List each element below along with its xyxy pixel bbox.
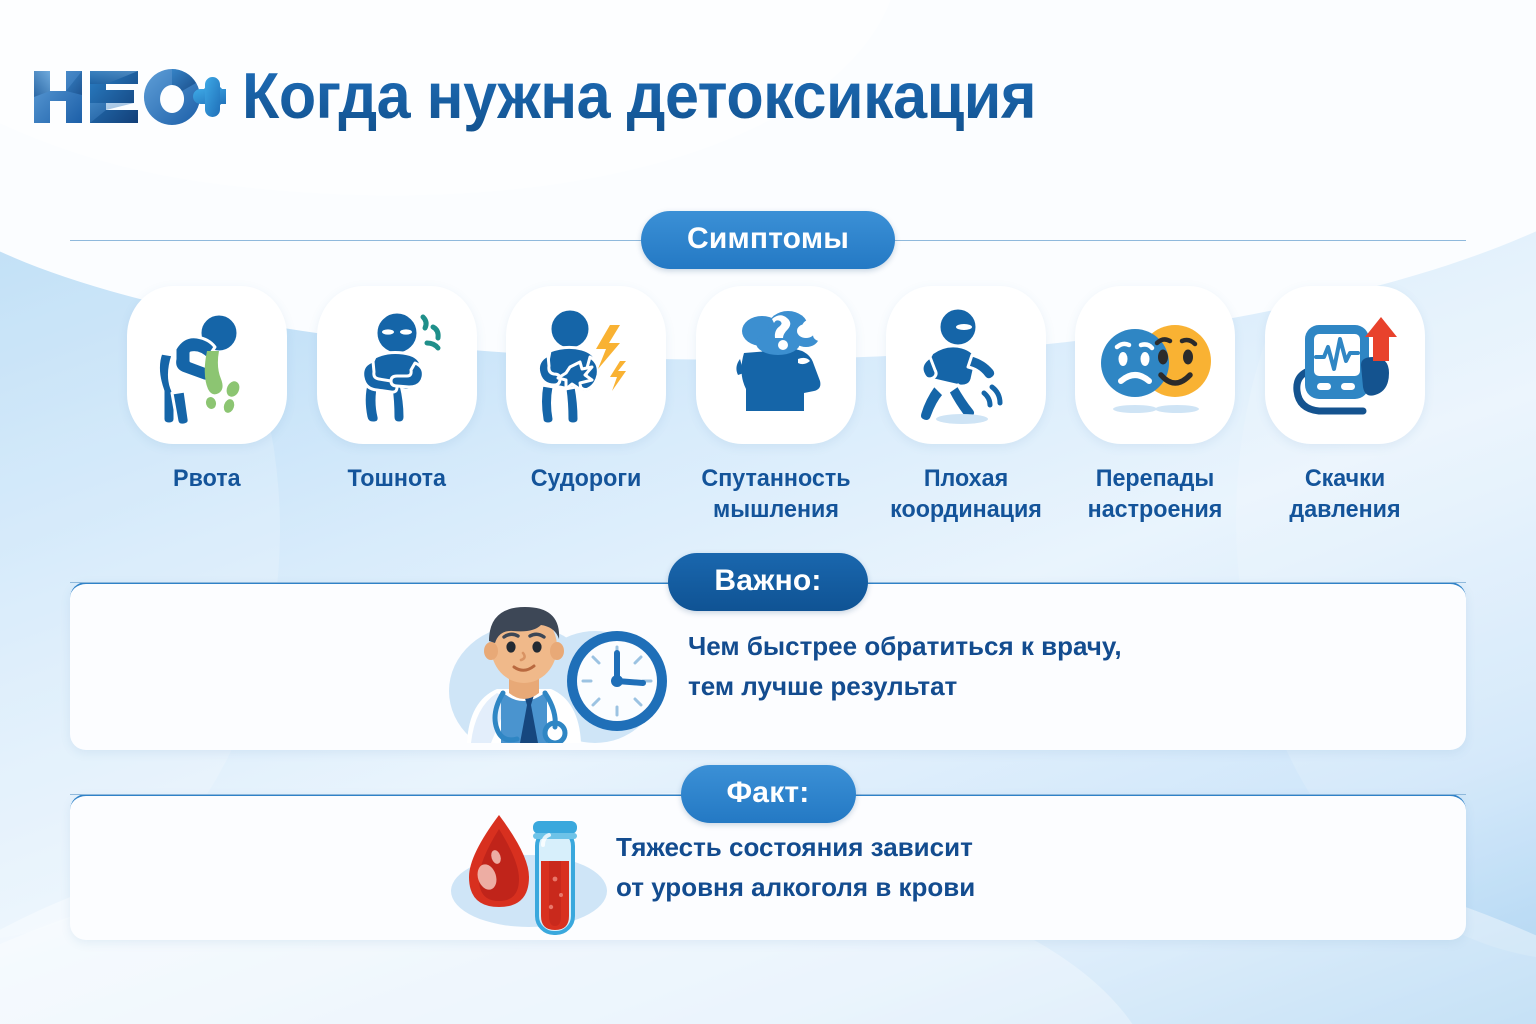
important-text: Чем быстрее обратиться к врачу, тем лучш… [688, 627, 1122, 706]
symptom-label: Скачки давления [1259, 464, 1432, 525]
symptom-item[interactable]: Тошнота [308, 286, 486, 525]
symptom-label: Плохая координация [879, 464, 1052, 525]
nausea-person-icon [335, 305, 459, 425]
doctor-with-clock-illustration [422, 594, 682, 744]
fact-badge: Факт: [681, 765, 856, 823]
brand-logo [30, 65, 226, 129]
symptom-icon-tile [1265, 286, 1425, 444]
symptom-label: Судороги [531, 464, 642, 495]
important-section-header: Важно: [70, 552, 1466, 612]
blood-pressure-monitor-icon [1283, 305, 1407, 425]
symptom-item[interactable]: Плохая координация [877, 286, 1055, 525]
vomiting-person-icon [145, 305, 269, 425]
symptom-icon-tile [127, 286, 287, 444]
symptom-icon-tile [317, 286, 477, 444]
symptom-icon-tile [886, 286, 1046, 444]
symptoms-badge: Симптомы [641, 211, 895, 269]
infographic-page: Когда нужна детоксикация Симптомы [0, 0, 1536, 1024]
symptoms-section-header: Симптомы [70, 210, 1466, 270]
poor-coordination-person-icon [904, 305, 1028, 425]
neo-plus-logo-icon [30, 65, 226, 129]
symptom-icon-tile [506, 286, 666, 444]
symptom-label: Рвота [173, 464, 241, 495]
cramps-person-icon [524, 305, 648, 425]
symptom-item[interactable]: Судороги [497, 286, 675, 525]
fact-text: Тяжесть состояния зависит от уровня алко… [616, 828, 975, 907]
symptoms-list: Рвота [118, 286, 1434, 525]
symptom-label: Перепады настроения [1069, 464, 1242, 525]
symptom-label: Спутанность мышления [690, 464, 863, 525]
symptom-icon-tile [696, 286, 856, 444]
mood-swings-faces-icon [1093, 305, 1217, 425]
symptom-icon-tile [1075, 286, 1235, 444]
important-badge: Важно: [668, 553, 867, 611]
symptom-label: Тошнота [347, 464, 445, 495]
fact-section-header: Факт: [70, 764, 1466, 824]
symptom-item[interactable]: Скачки давления [1256, 286, 1434, 525]
page-title: Когда нужна детоксикация [242, 58, 1036, 133]
symptom-item[interactable]: Перепады настроения [1066, 286, 1244, 525]
symptom-item[interactable]: Рвота [118, 286, 296, 525]
header: Когда нужна детоксикация [0, 0, 1536, 190]
confused-head-icon [714, 305, 838, 425]
symptom-item[interactable]: Спутанность мышления [687, 286, 865, 525]
